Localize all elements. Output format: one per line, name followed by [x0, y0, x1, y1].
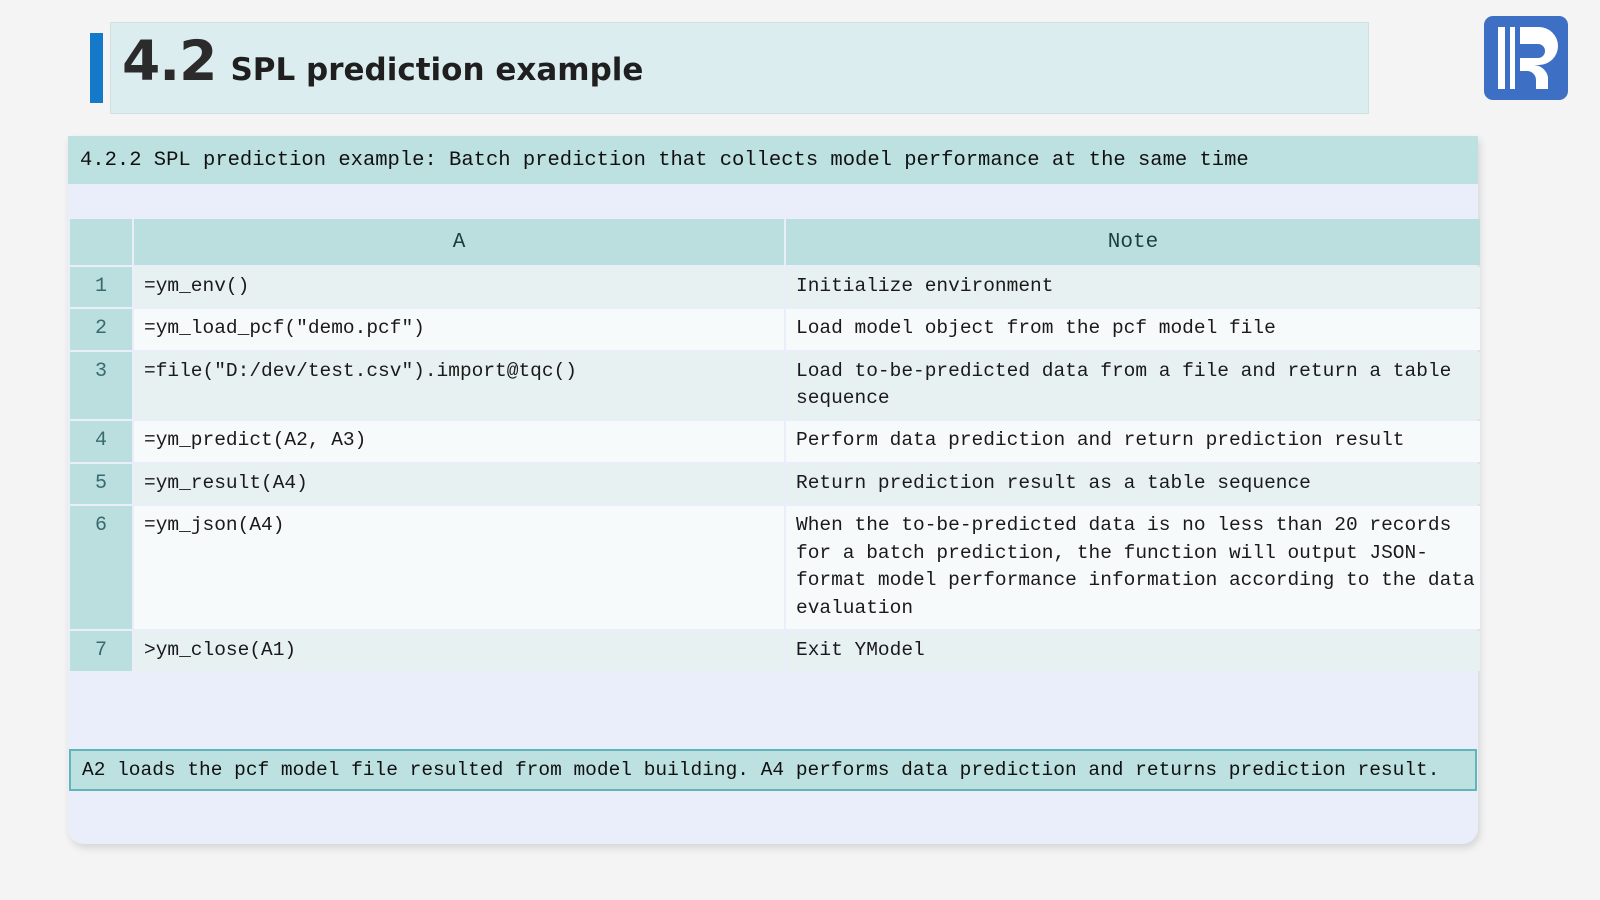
column-header-note: Note [786, 219, 1480, 265]
subsection-bar: 4.2.2 SPL prediction example: Batch pred… [68, 136, 1478, 184]
table-header-row: A Note [70, 219, 1480, 265]
table-row: 4 =ym_predict(A2, A3) Perform data predi… [70, 421, 1480, 461]
row-number: 3 [70, 352, 132, 419]
row-number: 5 [70, 464, 132, 504]
cell-note: Exit YModel [786, 631, 1480, 671]
ymodel-r-logo-icon [1482, 14, 1570, 102]
cell-a[interactable]: =ym_predict(A2, A3) [134, 421, 784, 461]
cell-note: Load to-be-predicted data from a file an… [786, 352, 1480, 419]
section-number: 4.2 [122, 34, 216, 89]
cell-a[interactable]: =ym_load_pcf("demo.pcf") [134, 309, 784, 349]
cell-note: Perform data prediction and return predi… [786, 421, 1480, 461]
spl-code-table: A Note 1 =ym_env() Initialize environmen… [68, 217, 1482, 673]
cell-a[interactable]: =ym_json(A4) [134, 506, 784, 629]
table-row: 7 >ym_close(A1) Exit YModel [70, 631, 1480, 671]
column-header-a: A [134, 219, 784, 265]
table-row: 6 =ym_json(A4) When the to-be-predicted … [70, 506, 1480, 629]
cell-note: Load model object from the pcf model fil… [786, 309, 1480, 349]
content-panel: 4.2.2 SPL prediction example: Batch pred… [68, 136, 1478, 844]
cell-a[interactable]: =ym_result(A4) [134, 464, 784, 504]
table-row: 2 =ym_load_pcf("demo.pcf") Load model ob… [70, 309, 1480, 349]
cell-a[interactable]: =ym_env() [134, 267, 784, 307]
subsection-title: 4.2.2 SPL prediction example: Batch pred… [68, 149, 1249, 172]
cell-note: Return prediction result as a table sequ… [786, 464, 1480, 504]
row-number: 1 [70, 267, 132, 307]
cell-a[interactable]: >ym_close(A1) [134, 631, 784, 671]
column-header-rownum [70, 219, 132, 265]
row-number: 2 [70, 309, 132, 349]
row-number: 4 [70, 421, 132, 461]
title-accent-bar [90, 33, 103, 103]
cell-note: When the to-be-predicted data is no less… [786, 506, 1480, 629]
table-row: 3 =file("D:/dev/test.csv").import@tqc() … [70, 352, 1480, 419]
page-title: SPL prediction example [230, 55, 643, 86]
cell-note: Initialize environment [786, 267, 1480, 307]
cell-a[interactable]: =file("D:/dev/test.csv").import@tqc() [134, 352, 784, 419]
table-row: 5 =ym_result(A4) Return prediction resul… [70, 464, 1480, 504]
caption-box: A2 loads the pcf model file resulted fro… [69, 749, 1477, 791]
row-number: 6 [70, 506, 132, 629]
slide-title: 4.2 SPL prediction example [122, 34, 643, 89]
caption-text: A2 loads the pcf model file resulted fro… [71, 759, 1439, 781]
row-number: 7 [70, 631, 132, 671]
table-row: 1 =ym_env() Initialize environment [70, 267, 1480, 307]
